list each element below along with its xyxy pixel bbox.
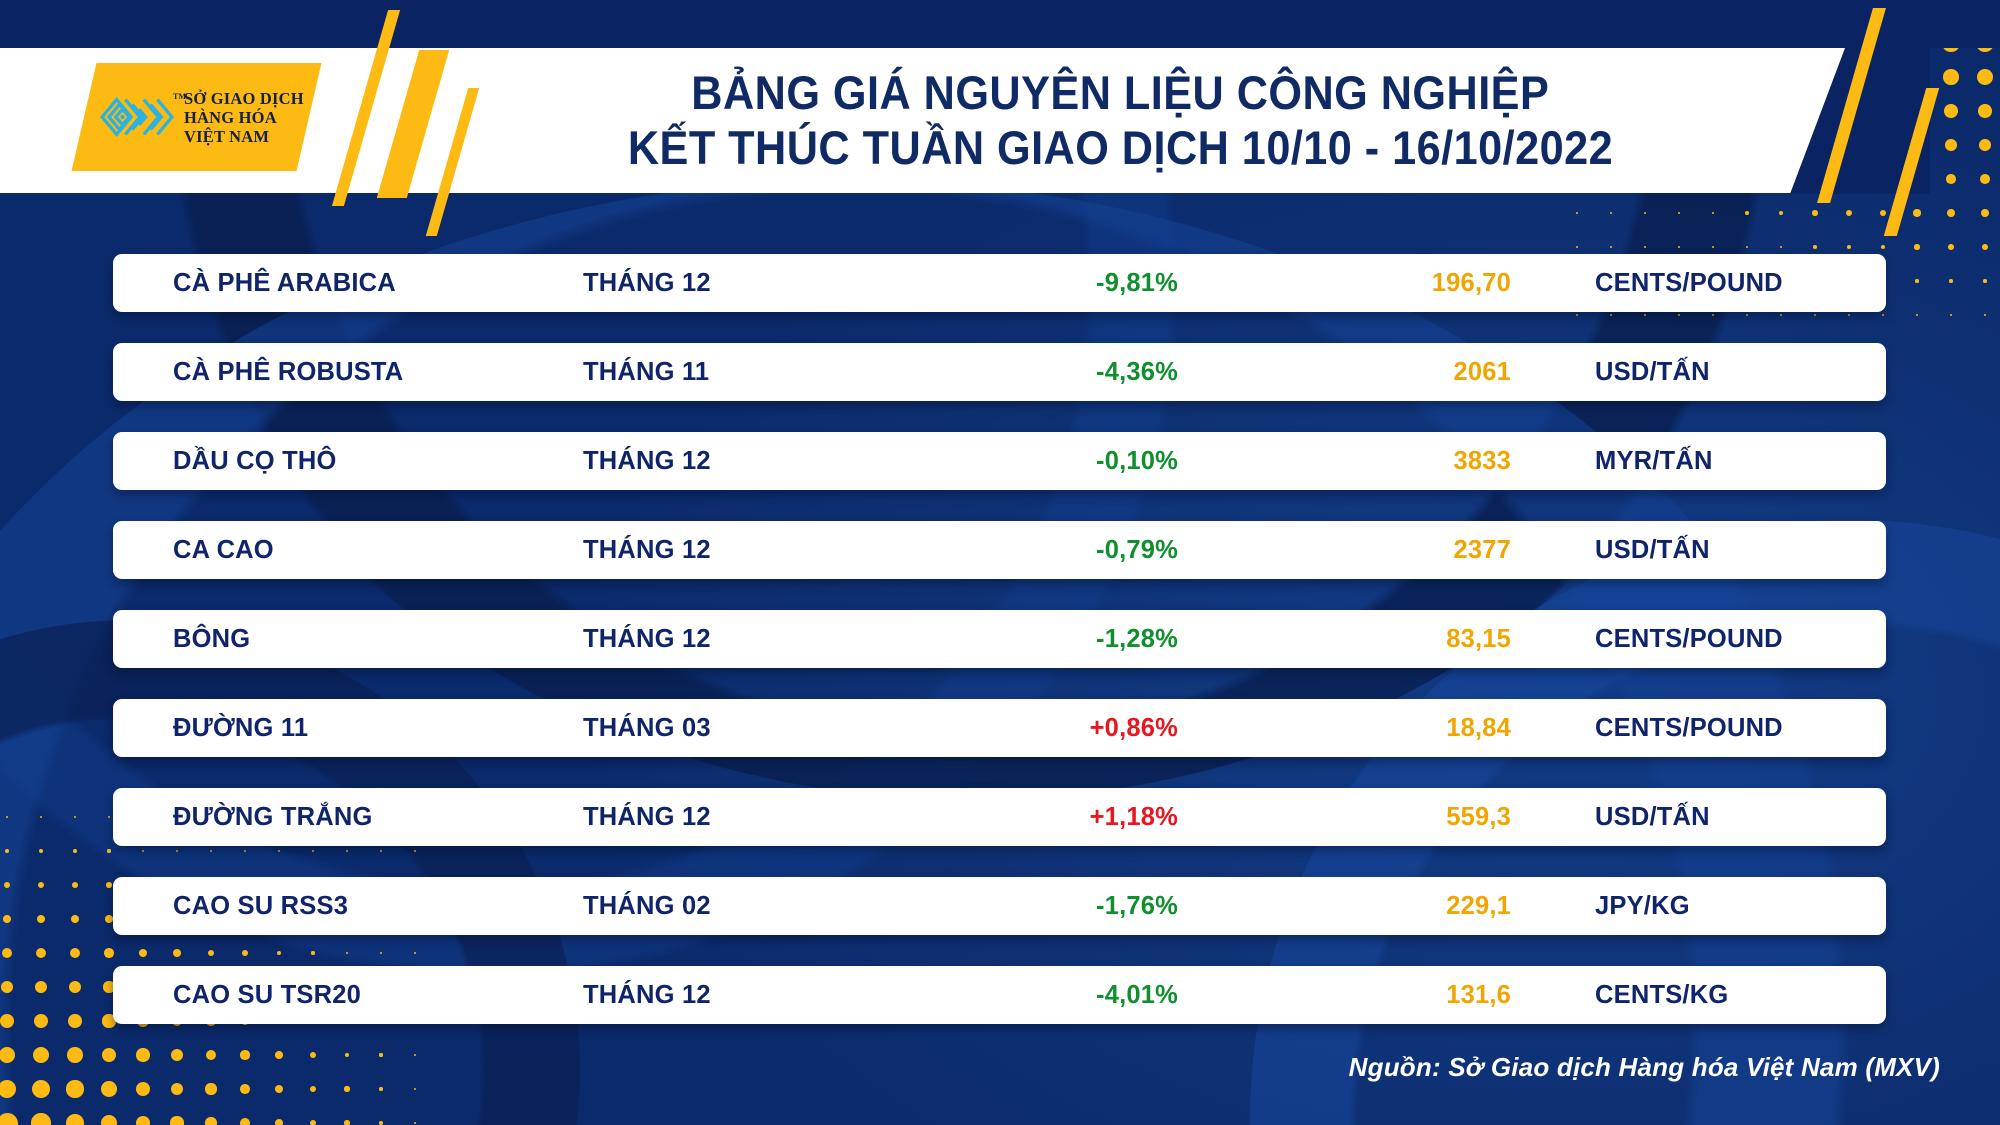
contract-month-cell: THÁNG 12: [583, 269, 883, 298]
price-unit-text: MYR/TẤN: [1595, 447, 1713, 475]
contract-month-text: THÁNG 12: [583, 269, 711, 297]
price-value-cell: 2377: [1178, 536, 1533, 565]
commodity-name-text: DẦU CỌ THÔ: [173, 447, 337, 475]
header-navy-band: [0, 0, 2000, 48]
contract-month-text: THÁNG 12: [583, 625, 711, 653]
table-row[interactable]: DẦU CỌ THÔTHÁNG 12-0,10%3833MYR/TẤN: [113, 432, 1886, 490]
title-line-2: KẾT THÚC TUẦN GIAO DỊCH 10/10 - 16/10/20…: [627, 120, 1612, 176]
price-change-cell: -4,36%: [883, 358, 1178, 387]
infographic-canvas: TM SỞ GIAO DỊCH HÀNG HÓA VIỆT NAM BẢNG G…: [0, 0, 2000, 1125]
contract-month-cell: THÁNG 03: [583, 714, 883, 743]
price-value-cell: 131,6: [1178, 981, 1533, 1010]
contract-month-cell: THÁNG 12: [583, 447, 883, 476]
price-unit-cell: CENTS/POUND: [1533, 625, 1886, 654]
price-unit-text: USD/TẤN: [1595, 536, 1710, 564]
contract-month-cell: THÁNG 12: [583, 536, 883, 565]
price-change-cell: -9,81%: [883, 269, 1178, 298]
commodity-name-text: CÀ PHÊ ARABICA: [173, 269, 396, 297]
commodity-name-cell: CÀ PHÊ ROBUSTA: [113, 358, 583, 387]
contract-month-cell: THÁNG 02: [583, 892, 883, 921]
price-change-cell: -4,01%: [883, 981, 1178, 1010]
commodity-name-text: CAO SU RSS3: [173, 892, 348, 920]
price-unit-cell: CENTS/POUND: [1533, 714, 1886, 743]
commodity-name-cell: ĐƯỜNG 11: [113, 714, 583, 743]
price-change-cell: +0,86%: [883, 714, 1178, 743]
commodity-name-cell: BÔNG: [113, 625, 583, 654]
commodity-name-text: BÔNG: [173, 625, 250, 653]
commodity-name-text: CÀ PHÊ ROBUSTA: [173, 358, 403, 386]
contract-month-text: THÁNG 12: [583, 981, 711, 1009]
commodity-name-cell: ĐƯỜNG TRẮNG: [113, 803, 583, 832]
contract-month-text: THÁNG 03: [583, 714, 711, 742]
contract-month-text: THÁNG 12: [583, 536, 711, 564]
logo: TM SỞ GIAO DỊCH HÀNG HÓA VIỆT NAM: [84, 63, 309, 171]
price-change-text: +1,18%: [1090, 803, 1178, 831]
price-value-text: 2061: [1453, 358, 1511, 386]
contract-month-cell: THÁNG 12: [583, 981, 883, 1010]
table-row[interactable]: CÀ PHÊ ARABICATHÁNG 12-9,81%196,70CENTS/…: [113, 254, 1886, 312]
price-unit-text: CENTS/POUND: [1595, 714, 1783, 742]
price-change-text: -0,79%: [1096, 536, 1178, 564]
commodity-name-text: ĐƯỜNG 11: [173, 714, 308, 742]
price-unit-cell: JPY/KG: [1533, 892, 1886, 921]
commodity-name-text: ĐƯỜNG TRẮNG: [173, 803, 373, 831]
price-unit-text: CENTS/KG: [1595, 981, 1728, 1009]
price-change-cell: +1,18%: [883, 803, 1178, 832]
price-value-cell: 83,15: [1178, 625, 1533, 654]
price-value-cell: 2061: [1178, 358, 1533, 387]
price-change-text: -4,36%: [1096, 358, 1178, 386]
contract-month-text: THÁNG 12: [583, 447, 711, 475]
source-footer: Nguồn: Sở Giao dịch Hàng hóa Việt Nam (M…: [0, 1052, 2000, 1083]
price-value-cell: 18,84: [1178, 714, 1533, 743]
contract-month-cell: THÁNG 12: [583, 625, 883, 654]
price-value-text: 83,15: [1446, 625, 1511, 653]
contract-month-text: THÁNG 02: [583, 892, 711, 920]
price-table: CÀ PHÊ ARABICATHÁNG 12-9,81%196,70CENTS/…: [0, 254, 2000, 1055]
price-unit-text: CENTS/POUND: [1595, 269, 1783, 297]
price-unit-cell: USD/TẤN: [1533, 358, 1886, 387]
price-value-text: 131,6: [1446, 981, 1511, 1009]
price-unit-cell: USD/TẤN: [1533, 536, 1886, 565]
price-value-text: 2377: [1453, 536, 1511, 564]
price-change-text: -1,76%: [1096, 892, 1178, 920]
price-unit-cell: USD/TẤN: [1533, 803, 1886, 832]
price-unit-cell: MYR/TẤN: [1533, 447, 1886, 476]
price-value-text: 229,1: [1446, 892, 1511, 920]
commodity-name-text: CA CAO: [173, 536, 274, 564]
price-value-text: 559,3: [1446, 803, 1511, 831]
page-title: BẢNG GIÁ NGUYÊN LIỆU CÔNG NGHIỆP KẾT THÚ…: [470, 54, 1770, 188]
logo-line-1: SỞ GIAO DỊCH: [184, 89, 304, 108]
table-row[interactable]: BÔNGTHÁNG 12-1,28%83,15CENTS/POUND: [113, 610, 1886, 668]
price-value-cell: 3833: [1178, 447, 1533, 476]
commodity-name-cell: CÀ PHÊ ARABICA: [113, 269, 583, 298]
source-text: Nguồn: Sở Giao dịch Hàng hóa Việt Nam (M…: [1349, 1052, 1940, 1082]
price-change-text: -9,81%: [1096, 269, 1178, 297]
price-unit-text: USD/TẤN: [1595, 803, 1710, 831]
price-unit-cell: CENTS/KG: [1533, 981, 1886, 1010]
commodity-name-cell: CA CAO: [113, 536, 583, 565]
price-value-text: 18,84: [1446, 714, 1511, 742]
table-row[interactable]: CAO SU TSR20THÁNG 12-4,01%131,6CENTS/KG: [113, 966, 1886, 1024]
price-unit-text: CENTS/POUND: [1595, 625, 1783, 653]
commodity-name-text: CAO SU TSR20: [173, 981, 361, 1009]
price-value-text: 196,70: [1432, 269, 1511, 297]
contract-month-cell: THÁNG 11: [583, 358, 883, 387]
commodity-name-cell: CAO SU RSS3: [113, 892, 583, 921]
table-row[interactable]: CA CAOTHÁNG 12-0,79%2377USD/TẤN: [113, 521, 1886, 579]
price-change-text: -1,28%: [1096, 625, 1178, 653]
price-unit-text: JPY/KG: [1595, 892, 1690, 920]
table-row[interactable]: CAO SU RSS3THÁNG 02-1,76%229,1JPY/KG: [113, 877, 1886, 935]
commodity-name-cell: DẦU CỌ THÔ: [113, 447, 583, 476]
price-value-text: 3833: [1453, 447, 1511, 475]
trademark-icon: TM: [173, 87, 186, 106]
contract-month-text: THÁNG 12: [583, 803, 711, 831]
price-unit-text: USD/TẤN: [1595, 358, 1710, 386]
logo-line-3: VIỆT NAM: [184, 127, 304, 146]
price-change-cell: -0,79%: [883, 536, 1178, 565]
table-row[interactable]: ĐƯỜNG 11THÁNG 03+0,86%18,84CENTS/POUND: [113, 699, 1886, 757]
commodity-name-cell: CAO SU TSR20: [113, 981, 583, 1010]
logo-wordmark: TM SỞ GIAO DỊCH HÀNG HÓA VIỆT NAM: [184, 89, 304, 146]
price-unit-cell: CENTS/POUND: [1533, 269, 1886, 298]
price-value-cell: 559,3: [1178, 803, 1533, 832]
price-value-cell: 229,1: [1178, 892, 1533, 921]
logo-line-2: HÀNG HÓA: [184, 108, 304, 127]
table-row[interactable]: ĐƯỜNG TRẮNGTHÁNG 12+1,18%559,3USD/TẤN: [113, 788, 1886, 846]
price-value-cell: 196,70: [1178, 269, 1533, 298]
price-change-text: +0,86%: [1090, 714, 1178, 742]
price-change-cell: -0,10%: [883, 447, 1178, 476]
table-row[interactable]: CÀ PHÊ ROBUSTATHÁNG 11-4,36%2061USD/TẤN: [113, 343, 1886, 401]
title-line-1: BẢNG GIÁ NGUYÊN LIỆU CÔNG NGHIỆP: [691, 66, 1549, 120]
price-change-cell: -1,76%: [883, 892, 1178, 921]
contract-month-cell: THÁNG 12: [583, 803, 883, 832]
price-change-text: -4,01%: [1096, 981, 1178, 1009]
price-change-text: -0,10%: [1096, 447, 1178, 475]
price-change-cell: -1,28%: [883, 625, 1178, 654]
contract-month-text: THÁNG 11: [583, 358, 709, 386]
mxv-maze-logo-icon: [99, 86, 177, 148]
